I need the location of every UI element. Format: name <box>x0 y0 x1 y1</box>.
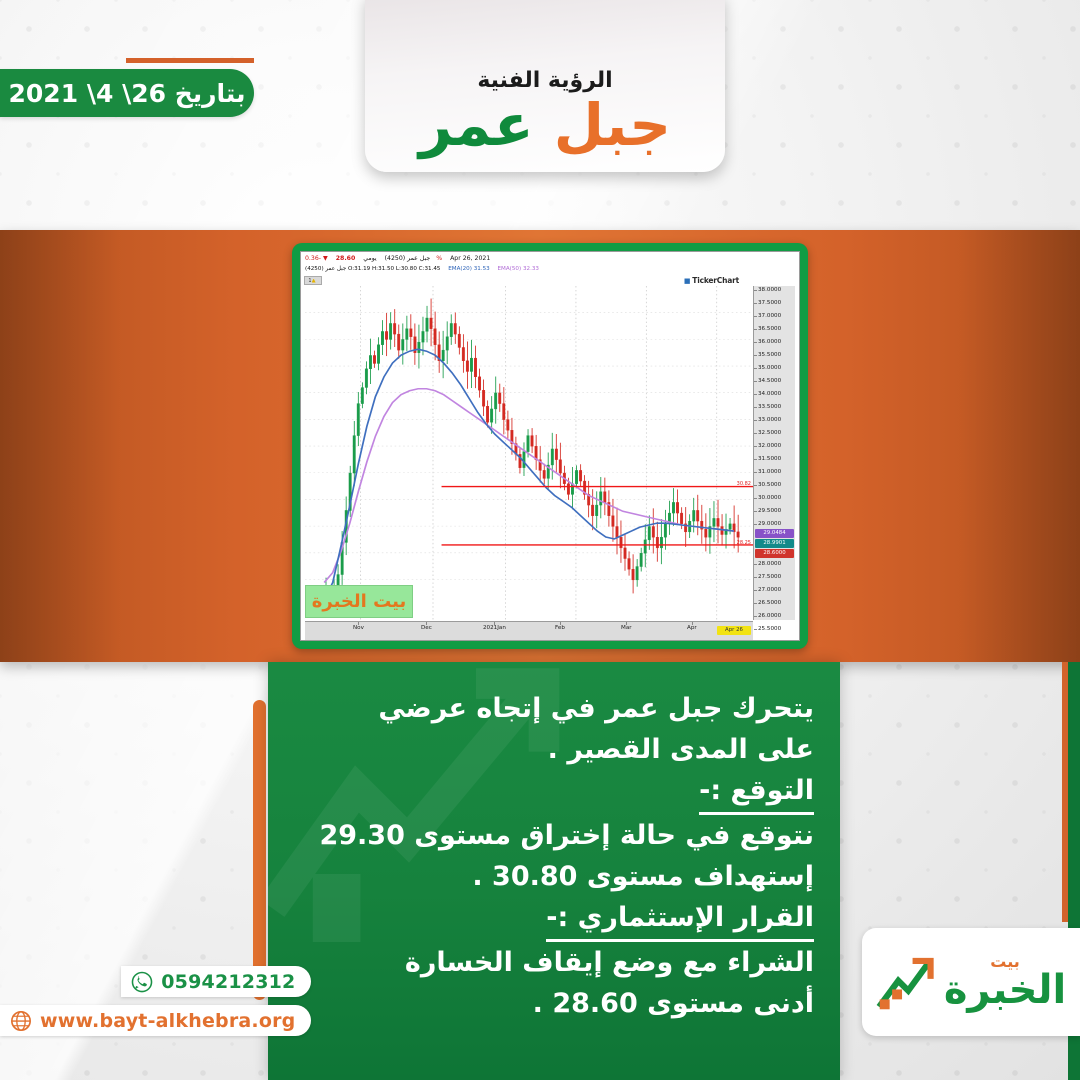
price-tick: 27.5000 <box>758 573 781 581</box>
price-tick: 32.0000 <box>758 442 781 450</box>
title-word-green: عمر <box>419 91 534 159</box>
brand-logo-card[interactable]: بيت الخبرة <box>862 928 1080 1036</box>
candlestick-svg <box>305 286 753 620</box>
price-tick: 35.0000 <box>758 364 781 372</box>
price-tick: 37.5000 <box>758 299 781 307</box>
analysis-heading-decision: القرار الإستثماري :- <box>546 897 814 942</box>
brand-logo-word: الخبرة <box>944 970 1066 1010</box>
date-tick: Feb <box>555 625 565 631</box>
chart-ema50: EMA(50) 32.33 <box>498 266 539 272</box>
website-url: www.bayt-alkhebra.org <box>40 1010 295 1032</box>
price-tick: 27.0000 <box>758 586 781 594</box>
chart-period: يومي <box>363 255 376 262</box>
resistance-label-1: 30.82 <box>737 481 751 487</box>
chart-plot-area[interactable]: 30.82 28.25 <box>305 286 753 620</box>
growth-arrow-icon <box>876 951 938 1013</box>
price-tick: 36.5000 <box>758 325 781 333</box>
price-tick: 38.0000 <box>758 286 781 294</box>
chart-ema20: EMA(20) 31.53 <box>448 266 489 272</box>
price-tag-last-price: 28.6000 <box>755 549 794 558</box>
date-tick: Mar <box>621 625 632 631</box>
price-tick: 28.0000 <box>758 560 781 568</box>
analysis-line-4: إستهداف مستوى 30.80 . <box>294 856 814 897</box>
analysis-heading-2-wrap: القرار الإستثماري :- <box>294 897 814 942</box>
price-tick: 33.5000 <box>758 403 781 411</box>
title-word-orange: جبل <box>554 91 671 159</box>
whatsapp-pill[interactable]: 0594212312 <box>121 966 311 997</box>
price-tick: 31.0000 <box>758 468 781 476</box>
price-tick: 30.0000 <box>758 494 781 502</box>
analysis-text-block: يتحرك جبل عمر في إتجاه عرضي على المدى ال… <box>268 688 840 1024</box>
chart-symbol: جبل عمر (4250) <box>385 255 431 262</box>
brand-logo-text: بيت الخبرة <box>944 954 1066 1010</box>
chart-header-row-1: جبل عمر (4250) يومي 28.60 ▼ -0.36% Apr 2… <box>301 253 799 264</box>
analysis-line-3: نتوقع في حالة إختراق مستوى 29.30 <box>294 815 814 856</box>
chart-frame: جبل عمر (4250) يومي 28.60 ▼ -0.36% Apr 2… <box>292 243 808 649</box>
price-tag-ema-teal: 28.9901 <box>755 539 794 548</box>
price-tick: 29.0000 <box>758 520 781 528</box>
panel-accent-bar <box>253 700 266 1000</box>
globe-icon <box>10 1010 32 1032</box>
price-tick: 35.5000 <box>758 351 781 359</box>
date-tick: 2021Jan <box>483 625 506 631</box>
chart-ohlc: جبل عمر (4250) O:31.19 H:31.50 L:30.80 C… <box>305 266 440 272</box>
analysis-panel: يتحرك جبل عمر في إتجاه عرضي على المدى ال… <box>268 662 840 1080</box>
website-pill[interactable]: www.bayt-alkhebra.org <box>0 1005 311 1036</box>
price-tick: 37.0000 <box>758 312 781 320</box>
contact-block: 0594212312 www.bayt-alkhebra.org <box>0 966 311 1044</box>
date-tick: Dec <box>421 625 432 631</box>
date-badge-wrap: بتاريخ 26\ 4\ 2021 <box>0 58 254 117</box>
price-tick: 34.5000 <box>758 377 781 385</box>
chart-price-axis[interactable]: 38.0000 37.5000 37.0000 36.5000 36.0000 … <box>753 286 795 620</box>
poster-canvas: الرؤية الفنية جبل عمر بتاريخ 26\ 4\ 2021… <box>0 0 1080 1080</box>
analysis-line-5: الشراء مع وضع إيقاف الخسارة <box>294 942 814 983</box>
band-shade-left <box>0 230 120 662</box>
price-tick: 30.5000 <box>758 481 781 489</box>
price-tick: 25.5000 <box>758 625 781 633</box>
analysis-line-1: يتحرك جبل عمر في إتجاه عرضي <box>294 688 814 729</box>
analysis-line-2: على المدى القصير . <box>294 729 814 770</box>
price-tick: 32.5000 <box>758 429 781 437</box>
price-tick: 36.0000 <box>758 338 781 346</box>
price-tag-ema-purple: 29.0484 <box>755 529 794 538</box>
date-accent-rule <box>126 58 254 63</box>
resistance-label-2: 28.25 <box>737 540 751 546</box>
page-title: جبل عمر <box>419 95 671 156</box>
price-tick: 34.0000 <box>758 390 781 398</box>
kicker-label: الرؤية الفنية <box>477 68 612 93</box>
price-tick: 33.0000 <box>758 416 781 424</box>
chart-date: Apr 26, 2021 <box>450 255 490 262</box>
whatsapp-number: 0594212312 <box>161 971 295 993</box>
chart-watermark: بيت الخبرة <box>305 585 413 618</box>
whatsapp-icon <box>131 971 153 993</box>
price-tick: 29.5000 <box>758 507 781 515</box>
date-badge: بتاريخ 26\ 4\ 2021 <box>0 69 254 117</box>
chart-screenshot[interactable]: جبل عمر (4250) يومي 28.60 ▼ -0.36% Apr 2… <box>300 251 800 641</box>
analysis-heading-1-wrap: التوقع :- <box>294 770 814 815</box>
tickerchart-logo: TickerChart <box>684 276 739 285</box>
chart-flag-icon[interactable]: 1 <box>304 276 322 285</box>
chart-last-price: 28.60 <box>336 255 356 262</box>
analysis-line-6: أدنى مستوى 28.60 . <box>294 983 814 1024</box>
chart-trend-arrow-icon: ▼ <box>323 255 328 262</box>
date-tag-current: Apr 26 <box>717 626 751 635</box>
analysis-heading-forecast: التوقع :- <box>699 770 814 815</box>
price-tick: 26.5000 <box>758 599 781 607</box>
date-tick: Apr <box>687 625 697 631</box>
title-card: الرؤية الفنية جبل عمر <box>365 0 725 172</box>
date-tick: Nov <box>353 625 364 631</box>
band-shade-right <box>960 230 1080 662</box>
chart-date-axis[interactable]: Nov Dec 2021Jan Feb Mar Apr Apr 26 <box>305 621 753 640</box>
price-tick: 31.5000 <box>758 455 781 463</box>
chart-header-row-2: جبل عمر (4250) O:31.19 H:31.50 L:30.80 C… <box>301 264 799 275</box>
price-tick: 26.0000 <box>758 612 781 620</box>
